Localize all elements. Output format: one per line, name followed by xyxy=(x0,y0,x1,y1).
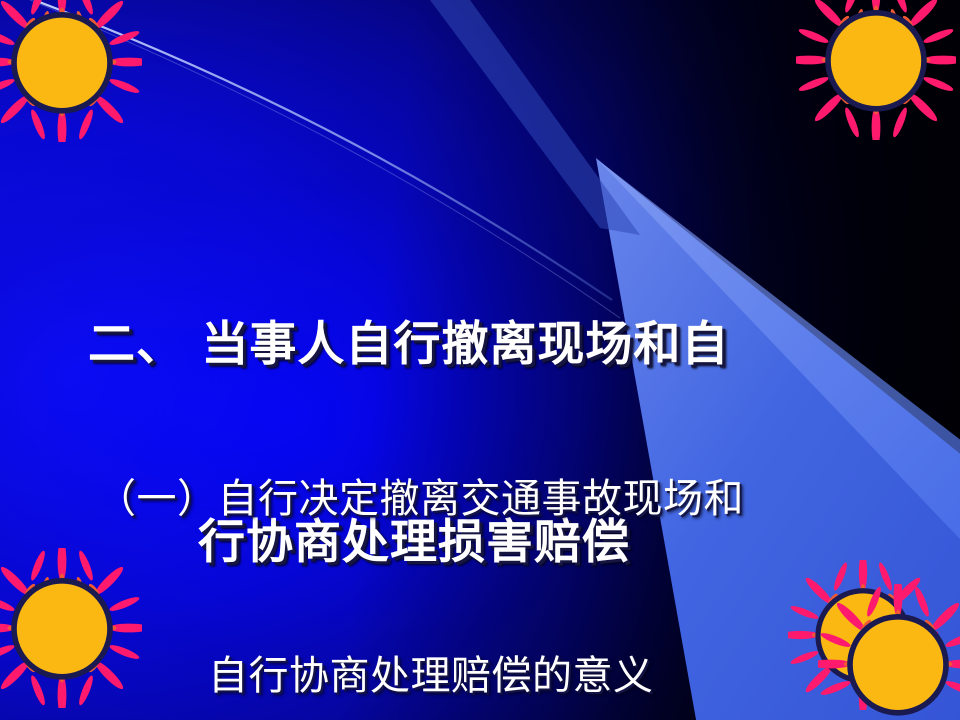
slide-body-list: （一）自行决定撤离交通事故现场和 自行协商处理赔偿的意义 （二）当事人可以即行撤… xyxy=(96,352,886,720)
slide-text-layer: 二、 当事人自行撤离现场和自 行协商处理损害赔偿 （一）自行决定撤离交通事故现场… xyxy=(0,0,960,720)
presentation-slide: 二、 当事人自行撤离现场和自 行协商处理损害赔偿 （一）自行决定撤离交通事故现场… xyxy=(0,0,960,720)
slide-body-line: 自行协商处理赔偿的意义 xyxy=(96,647,886,706)
slide-body-line: （一）自行决定撤离交通事故现场和 xyxy=(96,470,886,529)
